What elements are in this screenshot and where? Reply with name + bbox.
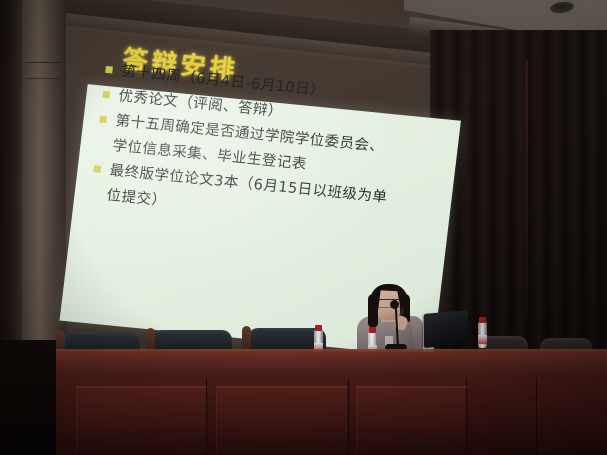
bullet-marker-icon xyxy=(105,66,113,74)
panel-inset xyxy=(356,386,468,454)
presenter-hair-left xyxy=(368,294,378,328)
bottle-cap xyxy=(369,327,376,333)
wall-pillar-edge xyxy=(0,0,22,345)
panel-seam xyxy=(466,378,467,455)
panel-seam xyxy=(348,378,349,455)
panel-seam xyxy=(206,378,207,455)
curtain-seam xyxy=(525,60,528,320)
slide-bullet-list: 第十四周（6月4日-6月10日） 优秀论文（评阅、答辩） 第十五周确定是否通过学… xyxy=(89,58,435,239)
lecture-hall-photo: 答辩安排 第十四周（6月4日-6月10日） 优秀论文（评阅、答辩） 第十五周确定… xyxy=(0,0,607,455)
panel-seam xyxy=(536,378,537,455)
bottle-label xyxy=(478,335,487,344)
laptop xyxy=(424,310,468,348)
bullet-marker-icon xyxy=(93,165,101,173)
panel-inset xyxy=(216,386,348,454)
bottle-cap xyxy=(315,325,322,331)
panel-inset xyxy=(76,386,208,454)
stage-left-shadow xyxy=(0,340,56,455)
bullet-marker-icon xyxy=(99,116,107,124)
pillar-seam-upper xyxy=(26,62,60,63)
bottle-cap xyxy=(479,317,486,323)
pillar-seam-lower xyxy=(26,78,60,79)
bullet-marker-icon xyxy=(102,91,110,99)
water-bottle xyxy=(478,322,487,348)
